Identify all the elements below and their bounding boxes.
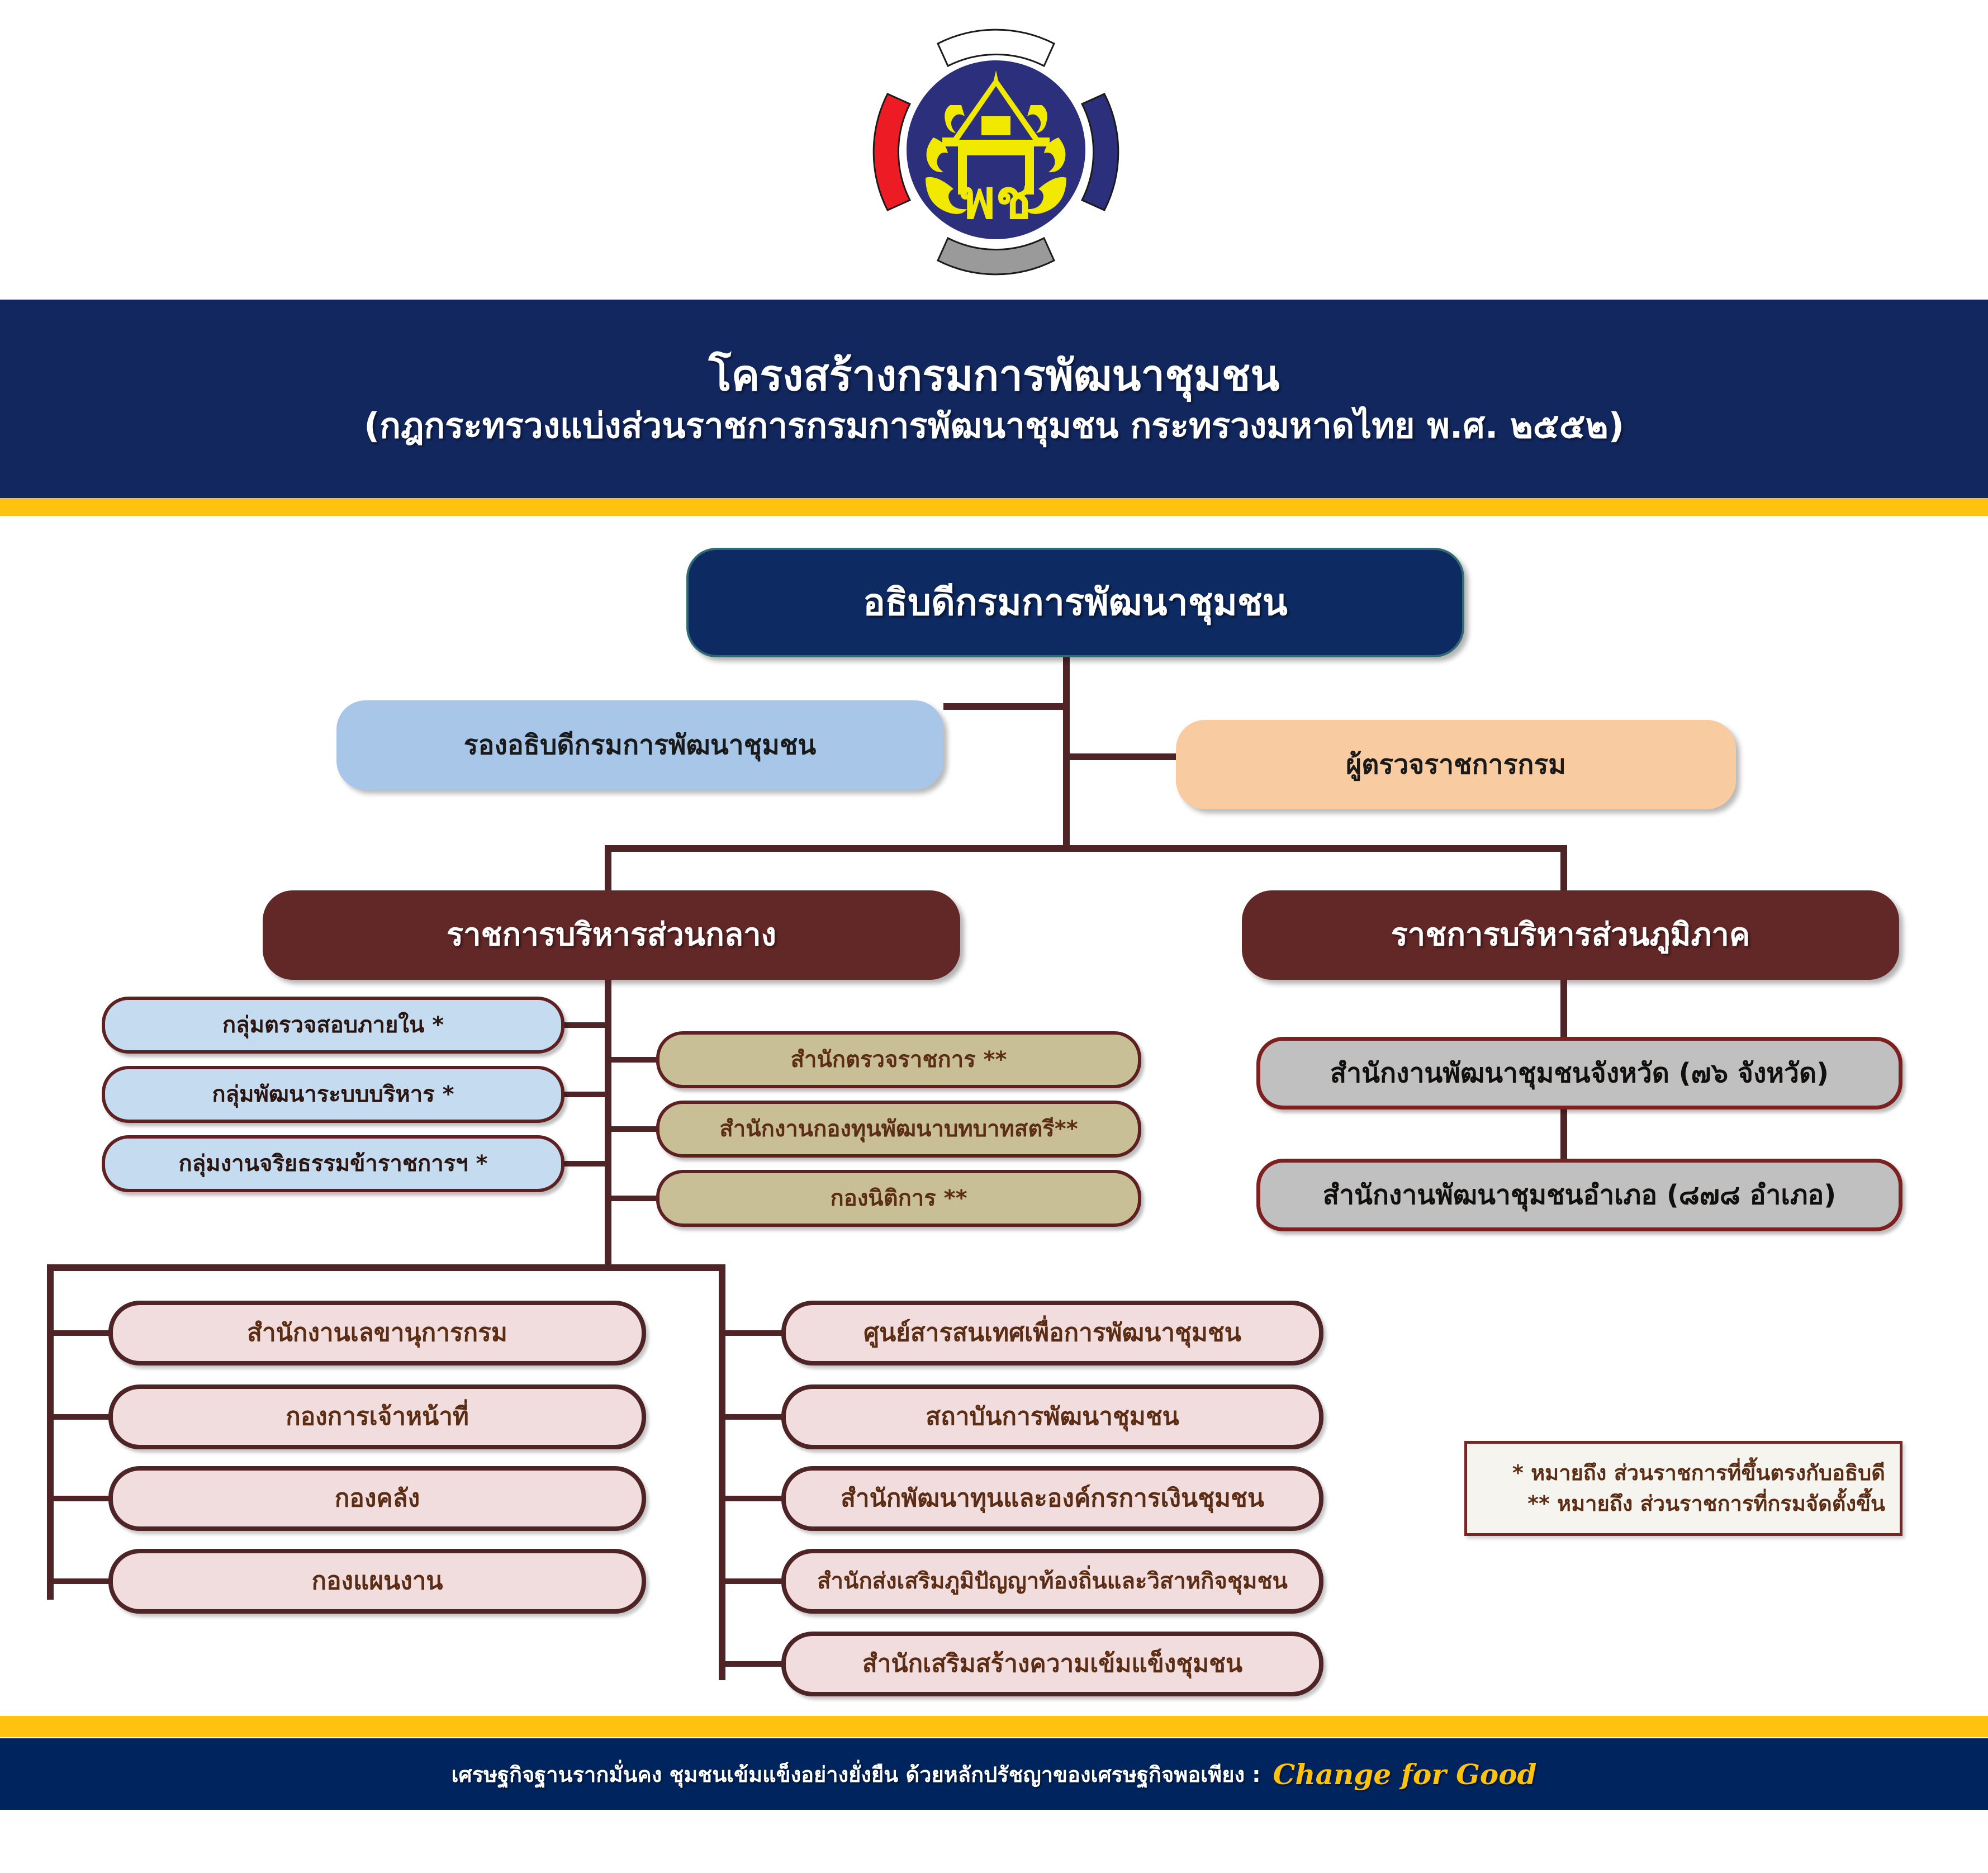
connector-right-bracket: [719, 1264, 725, 1680]
node-central-right-2[interactable]: สถาบันการพัฒนาชุมชน: [781, 1384, 1323, 1449]
node-deputy-director[interactable]: รองอธิบดีกรมการพัฒนาชุมชน: [336, 700, 943, 790]
footer-accent-bar: [0, 1716, 1988, 1737]
connector-deputy: [943, 703, 1070, 710]
node-central-right-3[interactable]: สำนักพัฒนาทุนและองค์กรการเงินชุมชน: [781, 1466, 1323, 1531]
node-direct-unit-3[interactable]: กลุ่มงานจริยธรรมข้าราชการฯ *: [102, 1135, 564, 1192]
node-division-central[interactable]: ราชการบริหารส่วนกลาง: [263, 890, 960, 980]
page-header: โครงสร้างกรมการพัฒนาชุมชน (กฎกระทรวงแบ่ง…: [0, 300, 1988, 498]
connector-blue-1: [560, 1022, 608, 1028]
connector-left-stub-1: [54, 1330, 112, 1336]
connector-regional-link: [1560, 1107, 1567, 1162]
node-central-left-4[interactable]: กองแผนงาน: [108, 1549, 646, 1614]
connector-divisions-bar: [605, 845, 1567, 852]
connector-lower-rail: [47, 1264, 725, 1271]
node-central-left-3[interactable]: กองคลัง: [108, 1466, 646, 1531]
node-department-unit-2[interactable]: สำนักงานกองทุนพัฒนาบทบาทสตรี**: [656, 1101, 1141, 1158]
node-department-unit-3[interactable]: กองนิติการ **: [656, 1170, 1141, 1227]
node-direct-unit-2[interactable]: กลุ่มพัฒนาระบบบริหาร *: [102, 1066, 564, 1123]
legend-line-2: ** หมายถึง ส่วนราชการที่กรมจัดตั้งขึ้น: [1527, 1488, 1885, 1519]
footer-slogan: Change for Good: [1273, 1758, 1536, 1791]
svg-text:พช: พช: [960, 168, 1032, 231]
connector-regional-spine: [1560, 980, 1567, 1042]
node-central-left-2[interactable]: กองการเจ้าหน้าที่: [108, 1384, 646, 1449]
org-chart-page: พช โครงสร้างกรมการพัฒนาชุมชน (กฎกระทรวงแ…: [0, 0, 1988, 1873]
node-central-right-1[interactable]: ศูนย์สารสนเทศเพื่อการพัฒนาชุมชน: [781, 1301, 1323, 1365]
connector-right-stub-5: [725, 1661, 785, 1667]
node-central-right-4[interactable]: สำนักส่งเสริมภูมิปัญญาท้องถิ่นและวิสาหกิ…: [781, 1549, 1323, 1614]
connector-inspector: [1063, 753, 1192, 760]
connector-tan-3: [608, 1196, 659, 1201]
connector-blue-3: [560, 1161, 608, 1167]
node-director[interactable]: อธิบดีกรมการพัฒนาชุมชน: [686, 548, 1464, 657]
connector-left-stub-4: [54, 1578, 112, 1584]
connector-blue-2: [560, 1092, 608, 1097]
node-regional-unit-2[interactable]: สำนักงานพัฒนาชุมชนอำเภอ (๘๗๘ อำเภอ): [1256, 1159, 1902, 1231]
connector-left-stub-2: [54, 1414, 112, 1420]
connector-right-stub-2: [725, 1414, 785, 1420]
footer-motto: เศรษฐกิจฐานรากมั่นคง ชุมชนเข้มแข็งอย่างย…: [451, 1757, 1260, 1791]
node-central-left-1[interactable]: สำนักงานเลขานุการกรม: [108, 1301, 646, 1365]
connector-right-stub-3: [725, 1496, 785, 1501]
legend-line-1: * หมายถึง ส่วนราชการที่ขึ้นตรงกับอธิบดี: [1512, 1458, 1885, 1488]
connector-right-stub-4: [725, 1578, 785, 1584]
connector-tan-2: [608, 1126, 659, 1132]
connector-left-stub-3: [54, 1496, 112, 1501]
cdd-emblem-logo: พช: [854, 10, 1138, 290]
node-inspector-general[interactable]: ผู้ตรวจราชการกรม: [1176, 720, 1736, 809]
node-division-regional[interactable]: ราชการบริหารส่วนภูมิภาค: [1242, 890, 1899, 980]
node-direct-unit-1[interactable]: กลุ่มตรวจสอบภายใน *: [102, 997, 564, 1054]
page-subtitle: (กฎกระทรวงแบ่งส่วนราชการกรมการพัฒนาชุมชน…: [364, 405, 1624, 447]
node-department-unit-1[interactable]: สำนักตรวจราชการ **: [656, 1031, 1141, 1088]
connector-left-bracket: [47, 1264, 54, 1600]
legend-box: * หมายถึง ส่วนราชการที่ขึ้นตรงกับอธิบดี …: [1464, 1441, 1902, 1536]
connector-tan-1: [608, 1057, 659, 1063]
connector-right-stub-1: [725, 1330, 785, 1336]
page-footer: เศรษฐกิจฐานรากมั่นคง ชุมชนเข้มแข็งอย่างย…: [0, 1738, 1988, 1810]
node-central-right-5[interactable]: สำนักเสริมสร้างความเข้มแข็งชุมชน: [781, 1632, 1323, 1696]
page-title: โครงสร้างกรมการพัฒนาชุมชน: [709, 351, 1280, 400]
node-regional-unit-1[interactable]: สำนักงานพัฒนาชุมชนจังหวัด (๗๖ จังหวัด): [1256, 1037, 1902, 1109]
header-accent-bar: [0, 498, 1988, 516]
